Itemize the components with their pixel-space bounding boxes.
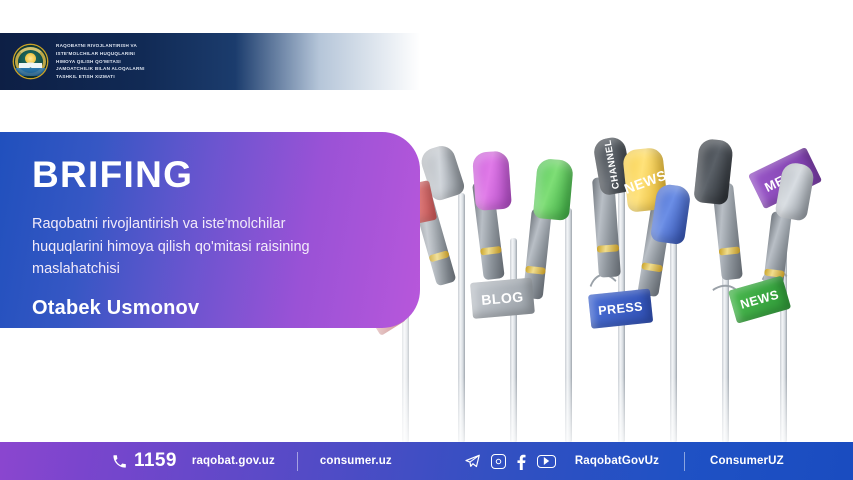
briefing-subtitle: Raqobatni rivojlantirish va iste'molchil… <box>32 213 344 281</box>
footer-bar: 1159 raqobat.gov.uz consumer.uz <box>0 442 853 480</box>
briefing-panel: BRIFING Raqobatni rivojlantirish va iste… <box>0 132 420 328</box>
instagram-icon[interactable] <box>491 454 506 469</box>
facebook-icon[interactable] <box>516 453 527 470</box>
social-group: RaqobatGovUz ConsumerUZ <box>464 452 784 471</box>
org-name-line: JAMOATCHILIK BILAN ALOQALARNI <box>56 65 145 73</box>
water-shape <box>14 68 47 76</box>
mic-head <box>693 138 734 205</box>
mic-head <box>472 150 512 210</box>
mic-stand <box>670 218 677 442</box>
page-title: BRIFING <box>32 156 394 193</box>
mic-flag: BLOG <box>470 278 535 319</box>
mic-stand <box>565 208 572 442</box>
mic-flag-label: NEWS <box>739 287 781 311</box>
website-secondary[interactable]: consumer.uz <box>320 455 392 467</box>
mic-flag-label: PRESS <box>598 299 644 318</box>
mic-head <box>533 158 574 221</box>
social-handle-primary[interactable]: RaqobatGovUz <box>575 455 659 467</box>
website-primary[interactable]: raqobat.gov.uz <box>192 455 275 467</box>
phone-group: 1159 raqobat.gov.uz consumer.uz <box>112 450 392 472</box>
briefing-banner: TV LIVE BLOG CHANNEL <box>0 0 853 480</box>
mic-flag-label: CHANNEL <box>603 138 623 189</box>
org-name-line: TASHKIL ETISH XIZMATI <box>56 73 145 81</box>
social-handle-secondary[interactable]: ConsumerUZ <box>710 455 784 467</box>
divider <box>297 452 298 471</box>
youtube-icon[interactable] <box>537 455 556 468</box>
org-name: RAQOBATNI RIVOJLANTIRISH VA ISTE'MOLCHIL… <box>56 42 145 81</box>
mic-flag: PRESS <box>588 289 653 329</box>
phone-number: 1159 <box>134 450 177 472</box>
mic-stand <box>458 193 465 442</box>
microphone-photo: TV LIVE BLOG CHANNEL <box>360 33 853 442</box>
uzbekistan-coat-of-arms-icon <box>14 45 47 78</box>
org-name-line: ISTE'MOLCHILAR HUQUQLARINI <box>56 50 145 58</box>
telegram-icon[interactable] <box>464 453 481 470</box>
mic-flag-label: BLOG <box>481 288 525 308</box>
speaker-name: Otabek Usmonov <box>32 297 394 320</box>
divider <box>684 452 685 471</box>
mic-head <box>650 183 692 245</box>
org-name-line: RAQOBATNI RIVOJLANTIRISH VA <box>56 42 145 50</box>
org-header-bar: RAQOBATNI RIVOJLANTIRISH VA ISTE'MOLCHIL… <box>0 33 420 90</box>
phone-icon <box>112 454 127 469</box>
org-name-line: HIMOYA QILISH QO'MITASI <box>56 58 145 66</box>
